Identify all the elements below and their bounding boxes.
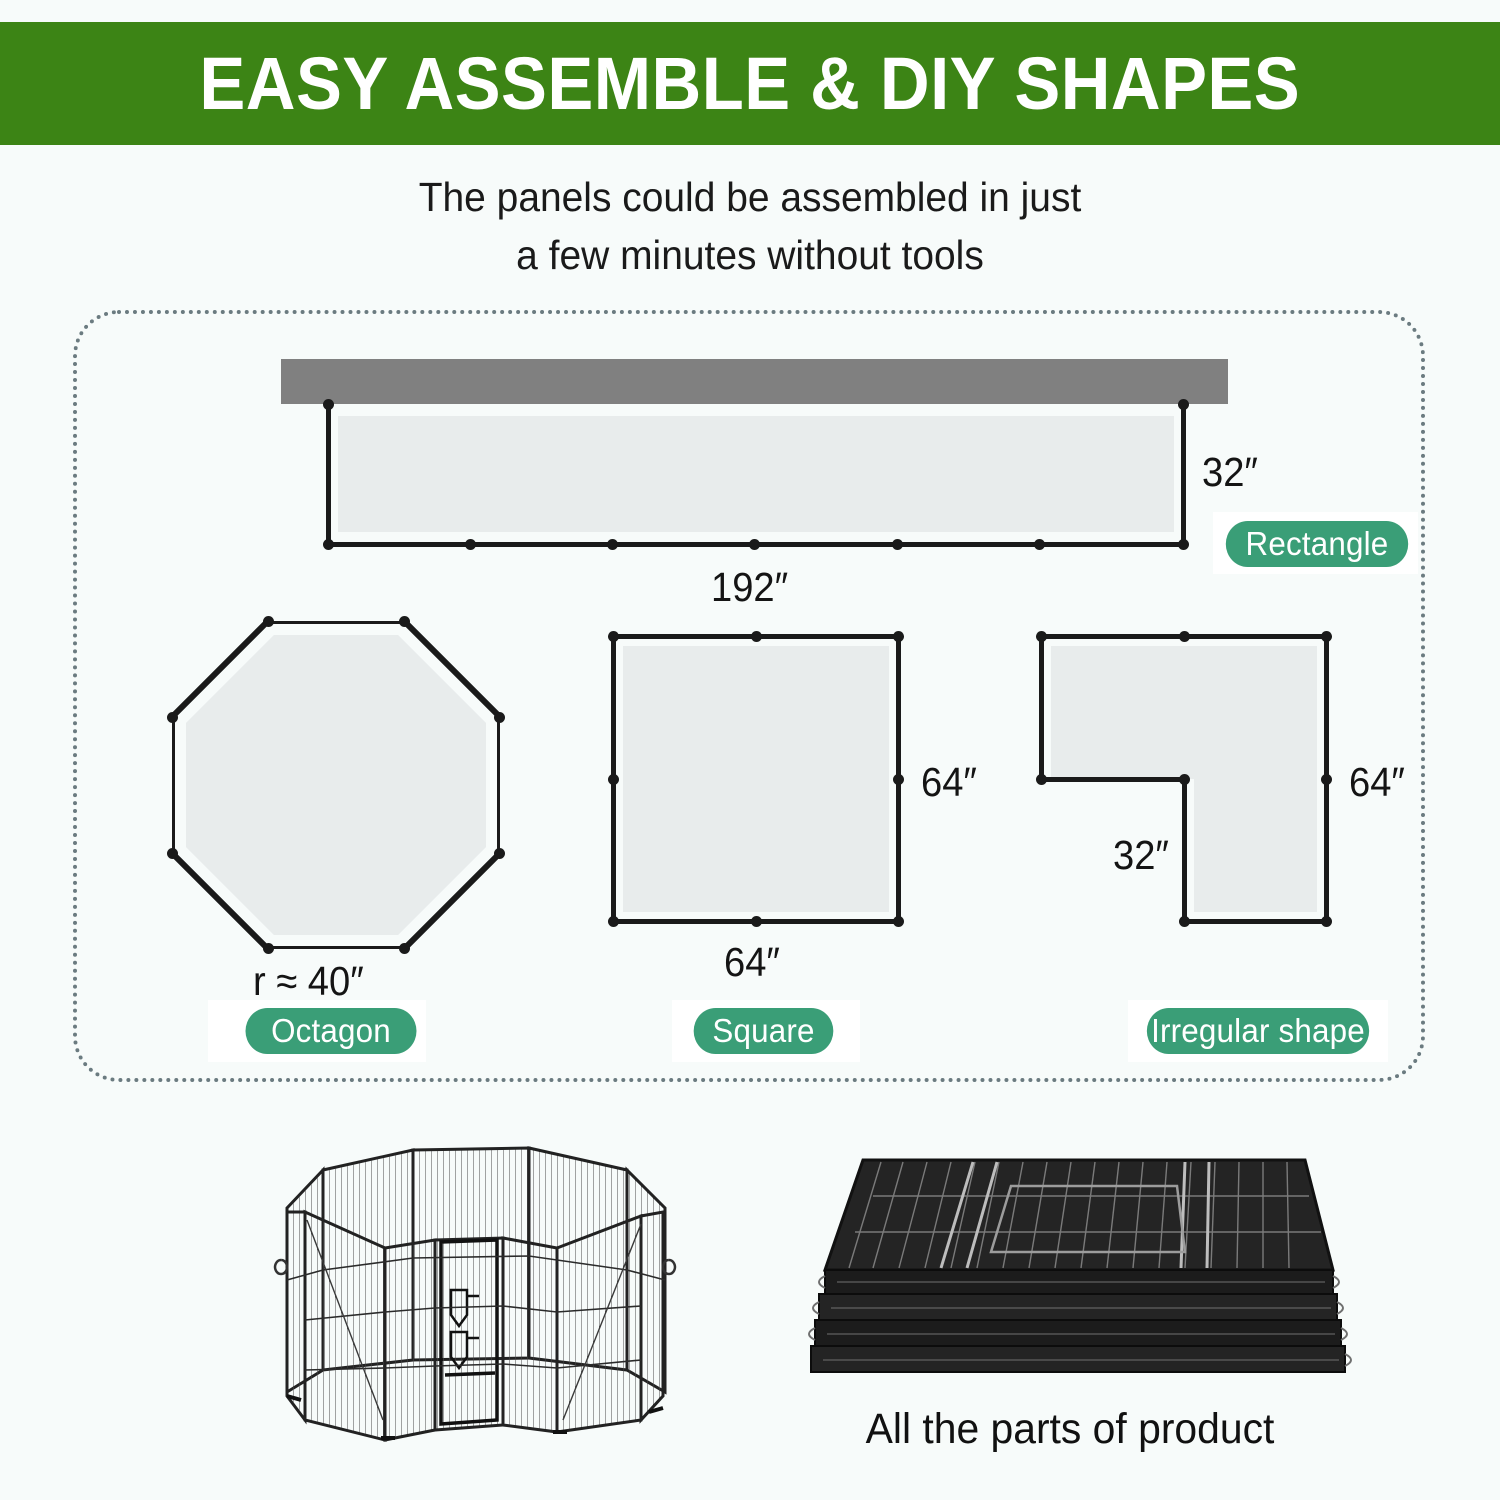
irregular-edge-left [1039, 634, 1044, 782]
irregular-edge-bottom [1182, 919, 1329, 924]
rectangle-node [607, 539, 618, 550]
rectangle-width-label: 192″ [711, 564, 788, 611]
rectangle-node [323, 399, 334, 410]
irregular-node [1036, 774, 1047, 785]
rectangle-edge-right [1181, 404, 1186, 545]
irregular-figure: 64″ 32″ [1039, 634, 1329, 924]
irregular-fill-right [1194, 646, 1317, 912]
square-node [893, 774, 904, 785]
octagon-node [494, 848, 505, 859]
rectangle-fill [338, 416, 1174, 532]
header-banner: EASY ASSEMBLE & DIY SHAPES [0, 22, 1500, 145]
irregular-notch-label: 32″ [1113, 832, 1169, 879]
octagon-node [167, 848, 178, 859]
irregular-node [1321, 631, 1332, 642]
product-photo-folded-parts [785, 1148, 1355, 1393]
square-node [893, 631, 904, 642]
square-node [751, 916, 762, 927]
rectangle-node [465, 539, 476, 550]
square-node [608, 774, 619, 785]
square-node [893, 916, 904, 927]
octagon-outline [172, 621, 500, 949]
badge-octagon[interactable]: Octagon [246, 1008, 417, 1054]
irregular-node [1321, 916, 1332, 927]
irregular-node [1179, 631, 1190, 642]
irregular-node [1036, 631, 1047, 642]
parts-photo-caption: All the parts of product [799, 1405, 1341, 1454]
rectangle-node [1178, 539, 1189, 550]
square-node [608, 916, 619, 927]
subtitle-line-1: The panels could be assembled in just [38, 168, 1463, 226]
rectangle-grey-bar [281, 359, 1228, 404]
octagon-radius-label: r ≈ 40″ [253, 958, 364, 1005]
irregular-height-label: 64″ [1349, 759, 1405, 806]
octagon-node [494, 712, 505, 723]
octagon-node [167, 712, 178, 723]
rectangle-node [892, 539, 903, 550]
square-height-label: 64″ [921, 759, 977, 806]
irregular-node [1321, 774, 1332, 785]
subtitle: The panels could be assembled in just a … [38, 168, 1463, 284]
square-node [751, 631, 762, 642]
irregular-node [1179, 916, 1190, 927]
irregular-node [1179, 774, 1190, 785]
square-node [608, 631, 619, 642]
badge-irregular[interactable]: Irregular shape [1147, 1008, 1369, 1054]
rectangle-edge-left [326, 404, 331, 545]
irregular-edge-notch-vertical [1182, 777, 1187, 924]
rectangle-height-label: 32″ [1202, 449, 1258, 496]
octagon-node [263, 943, 274, 954]
rectangle-node [749, 539, 760, 550]
octagon-node [263, 616, 274, 627]
square-figure: 64″ 64″ [611, 634, 901, 924]
octagon-node [399, 616, 410, 627]
octagon-node [399, 943, 410, 954]
product-photo-assembled-playpen [245, 1120, 705, 1450]
square-fill [623, 646, 889, 912]
square-width-label: 64″ [724, 939, 780, 986]
irregular-edge-notch-horizontal [1039, 777, 1187, 782]
rectangle-node [1178, 399, 1189, 410]
octagon-figure: r ≈ 40″ [172, 621, 500, 949]
subtitle-line-2: a few minutes without tools [38, 226, 1463, 284]
badge-rectangle[interactable]: Rectangle [1226, 521, 1408, 567]
rectangle-node [323, 539, 334, 550]
badge-square[interactable]: Square [694, 1008, 834, 1054]
rectangle-node [1034, 539, 1045, 550]
page-title: EASY ASSEMBLE & DIY SHAPES [200, 47, 1301, 121]
